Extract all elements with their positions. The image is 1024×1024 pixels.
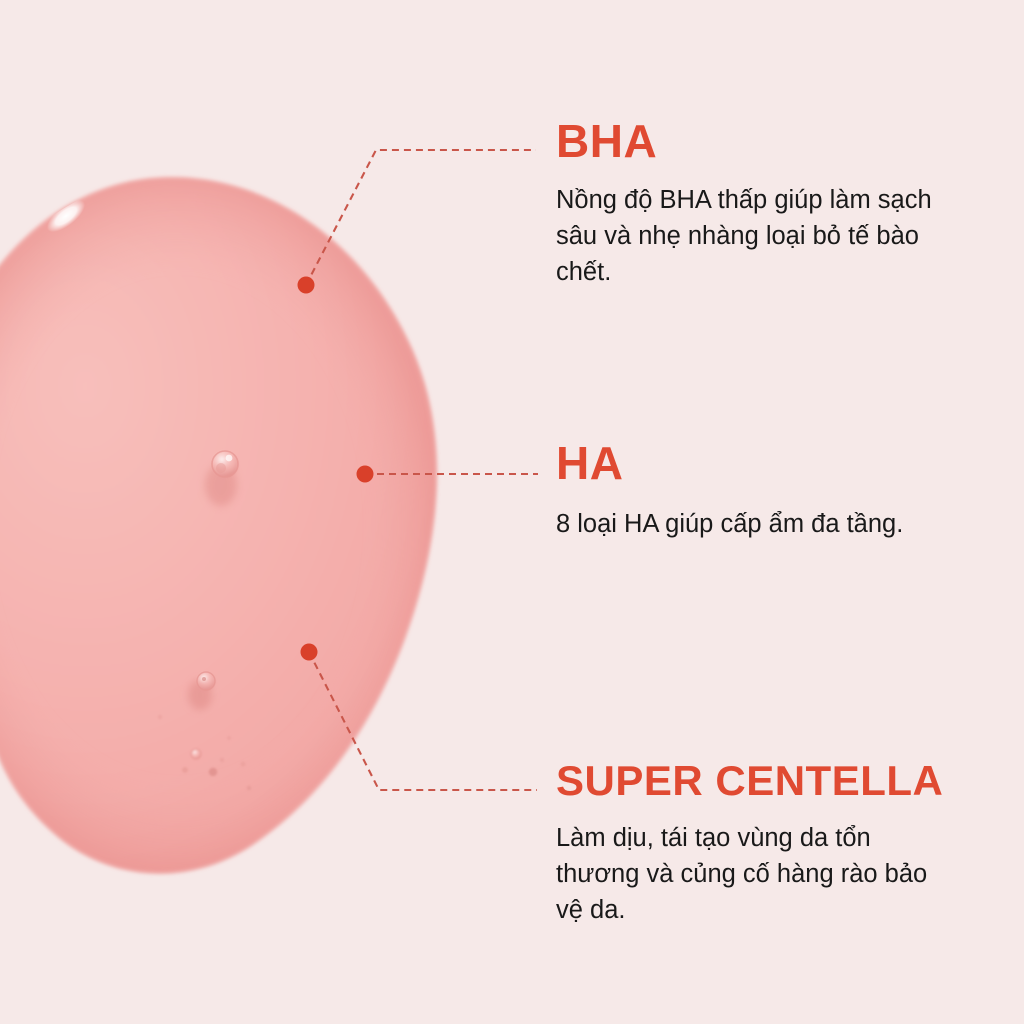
callout-ha: HA 8 loại HA giúp cấp ẩm đa tầng.	[556, 440, 956, 542]
callout-ha-body: 8 loại HA giúp cấp ẩm đa tầng.	[556, 506, 956, 542]
infographic-canvas: BHA Nồng độ BHA thấp giúp làm sạch sâu v…	[0, 0, 1024, 1024]
bubble-speck-h	[247, 786, 251, 790]
bubble-tiny-b	[182, 767, 188, 773]
bubble-tiny-e	[241, 762, 246, 767]
bubble-tiny-c	[209, 768, 217, 776]
bubble-speck-g	[227, 736, 231, 740]
callout-centella-heading: SUPER CENTELLA	[556, 760, 956, 802]
gel-droplet-shape	[0, 178, 436, 873]
bubble-tiny-a	[191, 749, 201, 759]
callout-bha-body: Nồng độ BHA thấp giúp làm sạch sâu và nh…	[556, 182, 956, 291]
callout-centella: SUPER CENTELLA Làm dịu, tái tạo vùng da …	[556, 760, 956, 929]
bubble-tiny-d	[220, 758, 224, 762]
callout-bha-heading: BHA	[556, 118, 956, 164]
bubble-speck-f	[158, 715, 162, 719]
callout-ha-heading: HA	[556, 440, 956, 486]
callout-centella-body: Làm dịu, tái tạo vùng da tổn thương và c…	[556, 820, 956, 929]
marker-dot-ha	[357, 466, 374, 483]
marker-dot-centella	[301, 644, 318, 661]
marker-dot-bha	[298, 277, 315, 294]
callout-bha: BHA Nồng độ BHA thấp giúp làm sạch sâu v…	[556, 118, 956, 291]
